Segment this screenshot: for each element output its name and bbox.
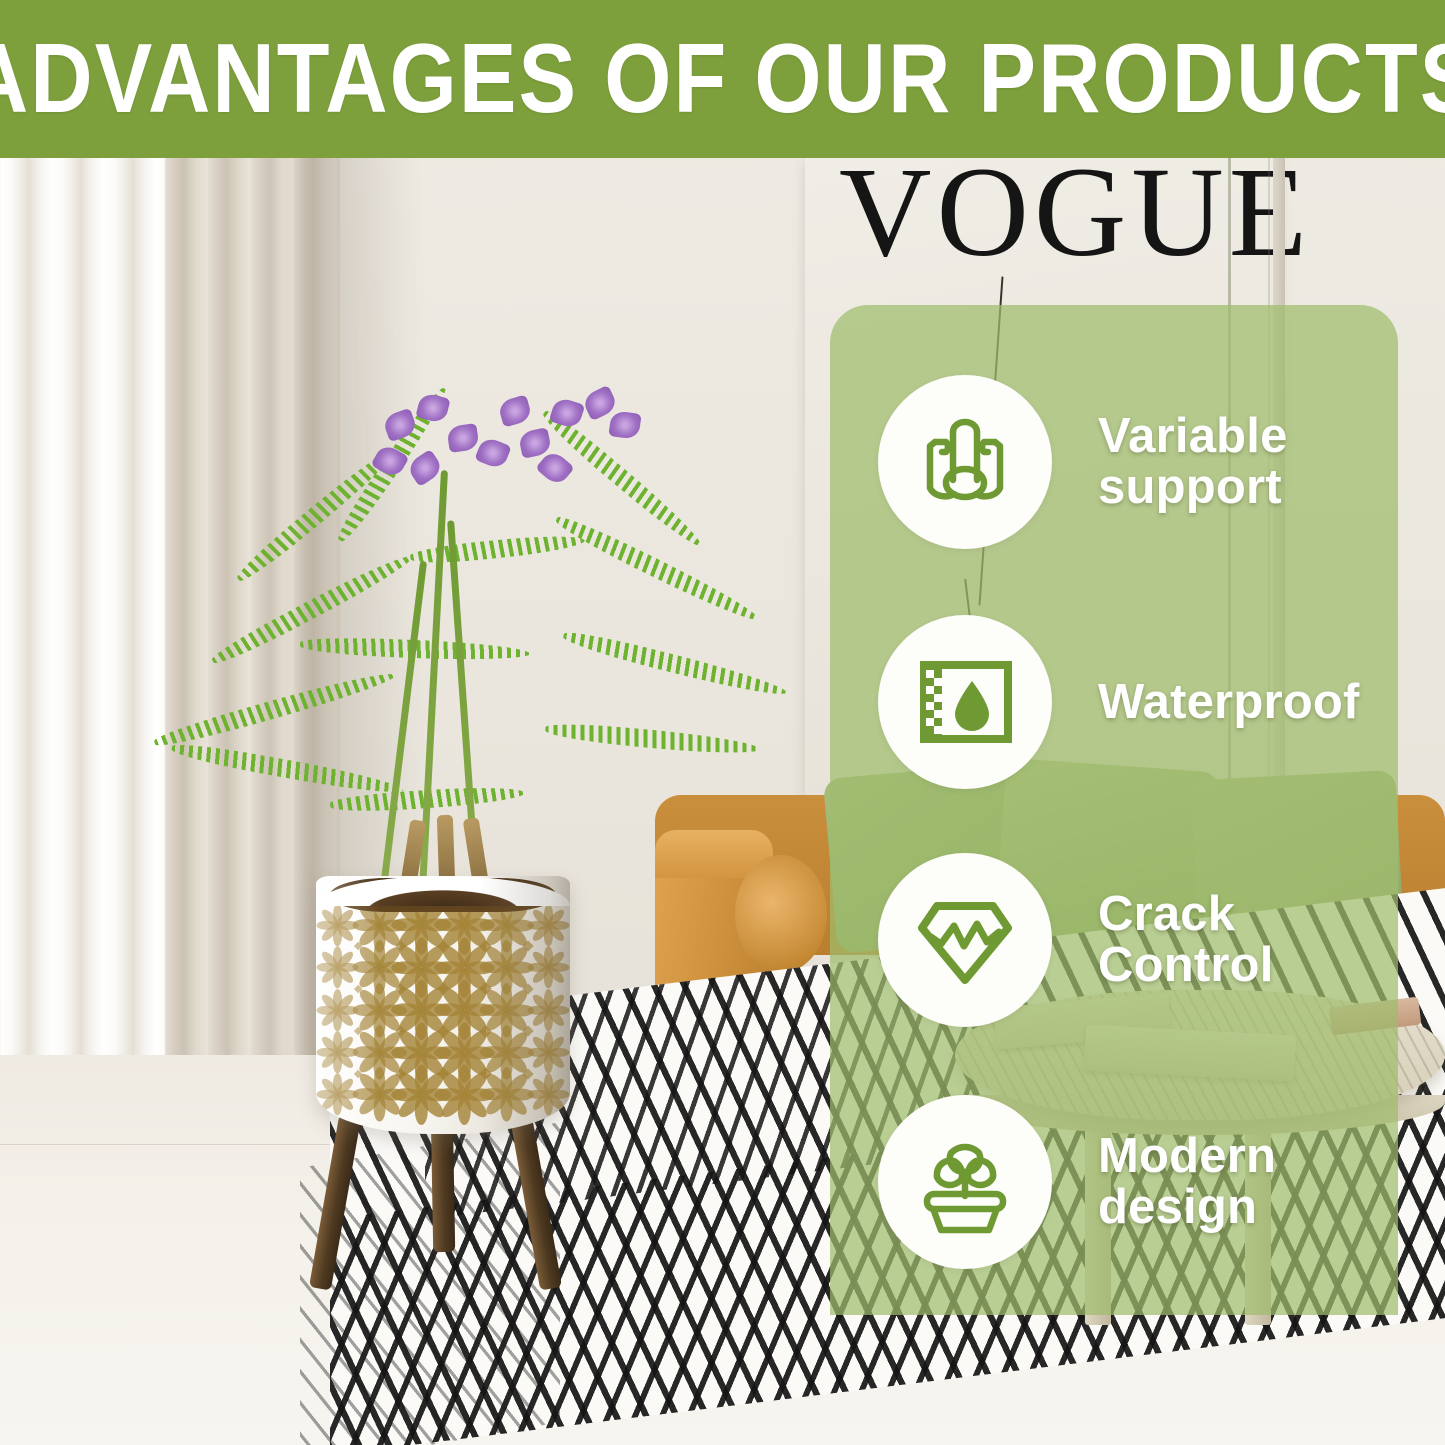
feature-item-variable-support[interactable]: Variable support [878, 375, 1288, 549]
planter-floral-pattern [316, 904, 570, 1116]
feature-item-crack-control[interactable]: Crack Control [878, 853, 1274, 1027]
header-banner: ADVANTAGES OF OUR PRODUCTS [0, 0, 1445, 158]
feature-label: Modern design [1098, 1131, 1276, 1233]
vogue-poster-title: VOGUE [839, 148, 1312, 276]
diamond-zigzag-icon [909, 884, 1021, 996]
banner-title: ADVANTAGES OF OUR PRODUCTS [0, 22, 1445, 135]
waterproof-drop-icon [909, 646, 1021, 758]
feature-list: Variable support [830, 305, 1445, 1315]
feature-icon-circle [878, 375, 1052, 549]
feature-icon-circle [878, 615, 1052, 789]
potted-plant-icon [909, 1126, 1021, 1238]
feature-label: Crack Control [1098, 889, 1274, 991]
rolled-mats-icon [909, 406, 1021, 518]
feature-label: Waterproof [1098, 677, 1360, 728]
plant-trunk [437, 815, 455, 886]
feature-item-waterproof[interactable]: Waterproof [878, 615, 1360, 789]
sofa-bolster-cushion [735, 855, 827, 973]
feature-icon-circle [878, 1095, 1052, 1269]
feature-icon-circle [878, 853, 1052, 1027]
feature-item-modern-design[interactable]: Modern design [878, 1095, 1276, 1269]
feature-label: Variable support [1098, 411, 1288, 513]
planter-pot [316, 876, 570, 1134]
product-infographic: VOGUE [0, 0, 1445, 1445]
